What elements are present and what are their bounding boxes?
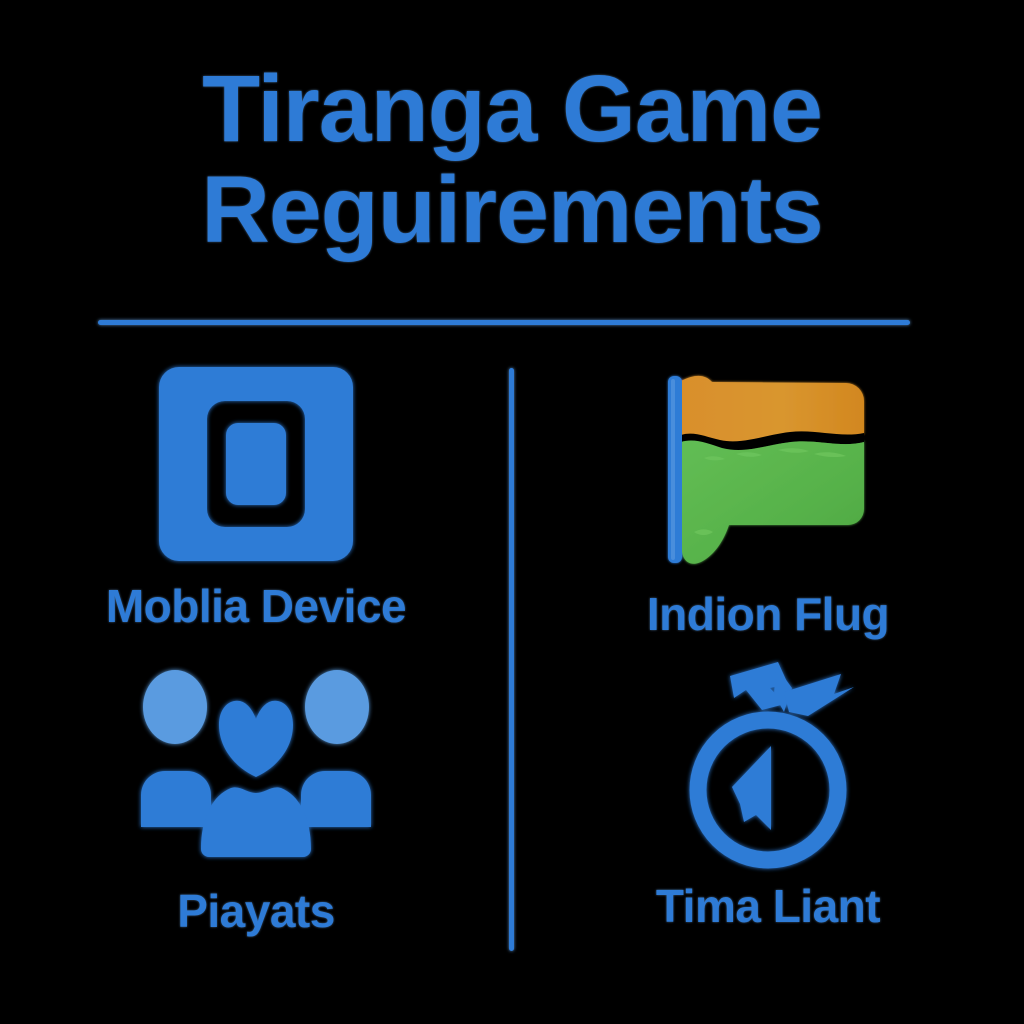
requirement-item-time-limit[interactable]: Tima Liant — [512, 662, 1024, 972]
title-line-2: Reguirements — [0, 163, 1024, 258]
poster-canvas: Tiranga Game Reguirements — [0, 0, 1024, 1024]
indian-flag-icon — [648, 362, 888, 577]
requirement-item-mobile-device[interactable]: Moblia Device — [0, 352, 512, 662]
title-line-1: Tiranga Game — [0, 62, 1024, 157]
horizontal-divider — [98, 320, 910, 325]
requirement-label-indian-flag: Indion Flug — [647, 591, 889, 637]
requirement-label-time-limit: Tima Liant — [656, 883, 880, 929]
requirement-label-players: Piayats — [177, 888, 335, 934]
requirement-label-mobile-device: Moblia Device — [106, 583, 406, 629]
requirement-item-players[interactable]: Piayats — [0, 662, 512, 972]
requirement-item-indian-flag[interactable]: Indion Flug — [512, 352, 1024, 662]
page-title: Tiranga Game Reguirements — [0, 62, 1024, 258]
mobile-device-icon — [136, 356, 376, 571]
stopwatch-icon — [648, 654, 888, 869]
people-group-icon — [136, 662, 376, 862]
requirements-grid: Moblia Device — [0, 352, 1024, 972]
